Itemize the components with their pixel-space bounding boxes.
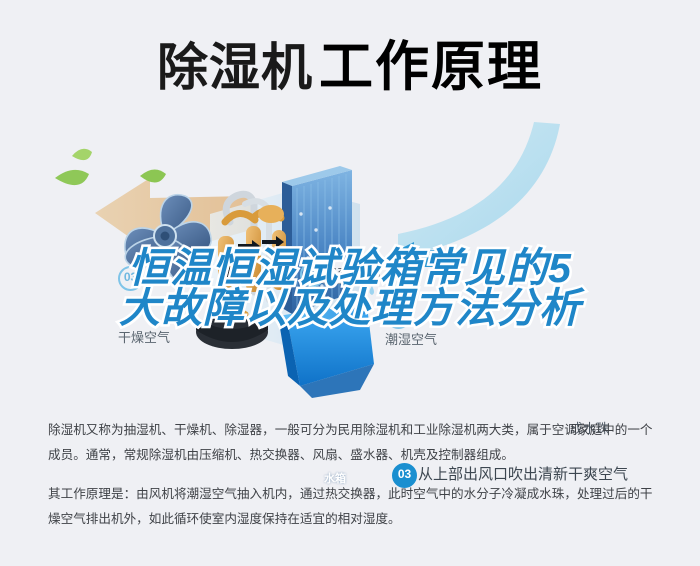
body-copy: 除湿机又称为抽湿机、干燥机、除湿器，一般可分为民用除湿机和工业除湿机两大类，属于…: [48, 418, 658, 532]
label-humid-air: 潮湿空气: [385, 329, 437, 348]
page-root: 除湿机工作原理: [0, 0, 700, 566]
water-droplets: [358, 286, 389, 313]
label-dry-air: 干燥空气: [118, 327, 170, 346]
page-title-bold: 工作原理: [319, 37, 543, 97]
page-title: 除湿机工作原理: [0, 22, 700, 101]
body-paragraph-2: 其工作原理是：由风机将潮湿空气抽入机内，通过热交换器，此时空气中的水分子冷凝成水…: [48, 482, 658, 532]
page-title-light: 除湿机: [157, 39, 313, 96]
badge-03-dry-air: 03: [118, 266, 143, 291]
heat-exchanger-callout: 热交换器: [318, 261, 380, 284]
refrigerant-coil: [218, 194, 286, 300]
body-paragraph-1: 除湿机又称为抽湿机、干燥机、除湿器，一般可分为民用除湿机和工业除湿机两大类，属于…: [48, 418, 658, 468]
badge-01-humid-air: 01: [386, 304, 411, 329]
water-tank: [278, 304, 374, 398]
dehumidifier-diagram: 03 02 01 03 热交换器 干燥空气 潮湿空气 水箱 成水珠 从上部出风口…: [0, 118, 700, 408]
humid-air-arrow-shape: [378, 122, 560, 278]
heat-exchanger-block: [282, 166, 352, 314]
